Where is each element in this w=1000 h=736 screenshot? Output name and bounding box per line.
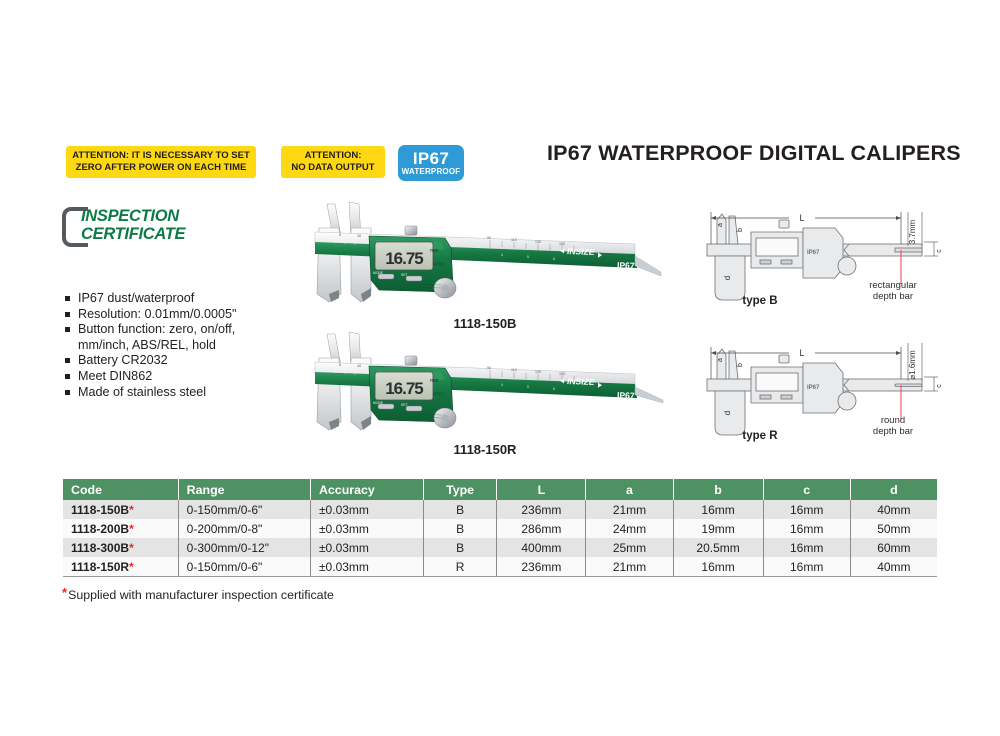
code-text: 1118-300B: [71, 541, 129, 555]
table-row[interactable]: 1118-300B* 0-300mm/0-12" ±0.03mm B 400mm…: [63, 538, 937, 557]
ip67-rating-label: IP67: [413, 150, 449, 167]
lcd-value: 16.75: [385, 379, 423, 398]
svg-text:mm: mm: [430, 378, 438, 384]
product-image-1118-150R: 90110 130150 456 INSIZE IP67 010: [305, 330, 665, 460]
list-item: IP67 dust/waterproof: [63, 291, 298, 307]
certificate-line2: CERTIFICATE: [81, 226, 185, 244]
svg-text:6: 6: [553, 387, 555, 391]
brand-logo-text: INSIZE: [567, 246, 595, 257]
cell-L: 236mm: [497, 500, 586, 519]
cell-c: 16mm: [763, 519, 850, 538]
product-image-1118-150B: 90110 130150 456 INSIZE IP67 010: [305, 198, 665, 333]
beam-ip67-mark: IP67: [617, 390, 635, 401]
svg-text:SET: SET: [401, 273, 408, 277]
technical-drawing-type-b: IP67 L a b d c: [695, 198, 945, 318]
table-header-row: Code Range Accuracy Type L a b c d: [63, 479, 937, 500]
depth-bar-size-label: 3.7mm: [908, 219, 917, 244]
column-header-c: c: [763, 479, 850, 500]
ip67-waterproof-badge: IP67 WATERPROOF: [398, 145, 464, 181]
catalog-page: ATTENTION: IT IS NECESSARY TO SET ZERO A…: [0, 0, 1000, 736]
dim-label-c: c: [936, 384, 943, 388]
cell-code: 1118-200B*: [63, 519, 178, 538]
cell-a: 25mm: [586, 538, 673, 557]
footnote: *Supplied with manufacturer inspection c…: [62, 585, 334, 602]
attention-set-zero-line1: ATTENTION: IT IS NECESSARY TO SET: [72, 150, 250, 162]
cell-a: 21mm: [586, 557, 673, 577]
cell-a: 24mm: [586, 519, 673, 538]
cell-code: 1118-150B*: [63, 500, 178, 519]
column-header-d: d: [850, 479, 937, 500]
code-text: 1118-150R: [71, 560, 129, 574]
beam-ip67-mark: IP67: [617, 260, 635, 271]
feature-list: IP67 dust/waterproof Resolution: 0.01mm/…: [63, 291, 298, 400]
list-item: Button function: zero, on/off,: [63, 322, 298, 338]
cell-type: R: [423, 557, 497, 577]
svg-text:10: 10: [357, 234, 361, 238]
list-item: Resolution: 0.01mm/0.0005": [63, 307, 298, 323]
cell-L: 236mm: [497, 557, 586, 577]
svg-text:10: 10: [357, 364, 361, 368]
svg-text:mm: mm: [430, 248, 438, 254]
list-item: Made of stainless steel: [63, 385, 298, 401]
page-title: IP67 WATERPROOF DIGITAL CALIPERS: [547, 141, 947, 166]
depth-bar-note-line1: round: [843, 415, 943, 426]
svg-text:4: 4: [501, 383, 503, 387]
cell-L: 286mm: [497, 519, 586, 538]
drawing-ip67-mark: IP67: [807, 250, 820, 256]
code-text: 1118-200B: [71, 522, 129, 536]
cert-star: *: [129, 522, 134, 536]
column-header-code: Code: [63, 479, 178, 500]
list-item: Battery CR2032: [63, 353, 298, 369]
svg-text:90: 90: [487, 236, 491, 240]
inspection-certificate-logo: INSPECTION CERTIFICATE: [62, 205, 262, 251]
zero-button: [406, 276, 422, 281]
svg-text:110: 110: [511, 238, 517, 242]
cell-code: 1118-300B*: [63, 538, 178, 557]
cell-type: B: [423, 538, 497, 557]
svg-text:MODE: MODE: [373, 401, 384, 405]
cell-range: 0-300mm/0-12": [178, 538, 310, 557]
drawing-ip67-mark: IP67: [807, 385, 820, 391]
cell-c: 16mm: [763, 538, 850, 557]
svg-text:150: 150: [559, 242, 565, 246]
dim-label-L: L: [799, 348, 804, 358]
dim-label-b: b: [737, 228, 744, 232]
list-item: Meet DIN862: [63, 369, 298, 385]
cell-type: B: [423, 519, 497, 538]
svg-text:IP67: IP67: [433, 392, 446, 398]
svg-text:130: 130: [535, 240, 541, 244]
attention-no-data-line2: NO DATA OUTPUT: [291, 162, 374, 174]
cell-b: 16mm: [673, 557, 763, 577]
list-item-continuation: mm/inch, ABS/REL, hold: [63, 338, 298, 354]
cell-b: 16mm: [673, 500, 763, 519]
cell-b: 20.5mm: [673, 538, 763, 557]
svg-text:0: 0: [339, 233, 341, 237]
svg-text:130: 130: [535, 370, 541, 374]
cell-b: 19mm: [673, 519, 763, 538]
dim-label-a: a: [717, 358, 724, 362]
specifications-table: Code Range Accuracy Type L a b c d 1118-…: [63, 479, 937, 577]
cell-a: 21mm: [586, 500, 673, 519]
attention-no-data-line1: ATTENTION:: [291, 150, 374, 162]
column-header-a: a: [586, 479, 673, 500]
footnote-star: *: [62, 585, 67, 600]
footnote-text: Supplied with manufacturer inspection ce…: [68, 588, 334, 602]
code-text: 1118-150B: [71, 503, 129, 517]
drawing-caption: type R: [635, 430, 885, 442]
ip67-waterproof-label: WATERPROOF: [402, 167, 461, 177]
svg-text:5: 5: [527, 385, 529, 389]
product-caption: 1118-150R: [305, 442, 665, 457]
table-row[interactable]: 1118-150R* 0-150mm/0-6" ±0.03mm R 236mm …: [63, 557, 937, 577]
attention-no-data-badge: ATTENTION: NO DATA OUTPUT: [281, 146, 385, 178]
cell-code: 1118-150R*: [63, 557, 178, 577]
certificate-line1: INSPECTION: [81, 208, 185, 226]
cert-star: *: [129, 503, 134, 517]
svg-text:0: 0: [339, 363, 341, 367]
cell-accuracy: ±0.03mm: [310, 519, 423, 538]
lcd-value: 16.75: [385, 249, 423, 268]
cell-range: 0-150mm/0-6": [178, 557, 310, 577]
column-header-b: b: [673, 479, 763, 500]
dim-label-L: L: [799, 213, 804, 223]
depth-bar-size-label: ⌀1.6mm: [908, 350, 917, 380]
dim-label-b: b: [737, 363, 744, 367]
table-row[interactable]: 1118-200B* 0-200mm/0-8" ±0.03mm B 286mm …: [63, 519, 937, 538]
column-header-accuracy: Accuracy: [310, 479, 423, 500]
svg-text:SET: SET: [401, 403, 408, 407]
cell-d: 50mm: [850, 519, 937, 538]
svg-text:150: 150: [559, 372, 565, 376]
column-header-L: L: [497, 479, 586, 500]
cell-range: 0-200mm/0-8": [178, 519, 310, 538]
svg-text:5: 5: [527, 255, 529, 259]
cell-range: 0-150mm/0-6": [178, 500, 310, 519]
svg-text:IP67: IP67: [433, 262, 446, 268]
dim-label-c: c: [936, 249, 943, 253]
attention-set-zero-badge: ATTENTION: IT IS NECESSARY TO SET ZERO A…: [66, 146, 256, 178]
cell-c: 16mm: [763, 500, 850, 519]
svg-text:4: 4: [501, 253, 503, 257]
svg-text:MODE: MODE: [373, 271, 384, 275]
cell-accuracy: ±0.03mm: [310, 500, 423, 519]
brand-logo-text: INSIZE: [567, 376, 595, 387]
technical-drawing-type-r: IP67 L a b d c ⌀1.6: [695, 333, 945, 453]
cell-accuracy: ±0.03mm: [310, 557, 423, 577]
svg-text:110: 110: [511, 368, 517, 372]
drawing-caption: type B: [635, 295, 885, 307]
dim-label-d: d: [723, 411, 732, 415]
cell-type: B: [423, 500, 497, 519]
cell-d: 60mm: [850, 538, 937, 557]
cell-d: 40mm: [850, 557, 937, 577]
svg-text:6: 6: [553, 257, 555, 261]
dim-label-a: a: [717, 223, 724, 227]
column-header-type: Type: [423, 479, 497, 500]
table-row[interactable]: 1118-150B* 0-150mm/0-6" ±0.03mm B 236mm …: [63, 500, 937, 519]
depth-bar-note-line1: rectangular: [843, 280, 943, 291]
dim-label-d: d: [723, 276, 732, 280]
attention-set-zero-line2: ZERO AFTER POWER ON EACH TIME: [72, 162, 250, 174]
product-caption: 1118-150B: [305, 316, 665, 331]
cell-accuracy: ±0.03mm: [310, 538, 423, 557]
cert-star: *: [129, 541, 134, 555]
cell-d: 40mm: [850, 500, 937, 519]
cell-c: 16mm: [763, 557, 850, 577]
column-header-range: Range: [178, 479, 310, 500]
svg-text:90: 90: [487, 366, 491, 370]
zero-button: [406, 406, 422, 411]
cert-star: *: [129, 560, 134, 574]
cell-L: 400mm: [497, 538, 586, 557]
